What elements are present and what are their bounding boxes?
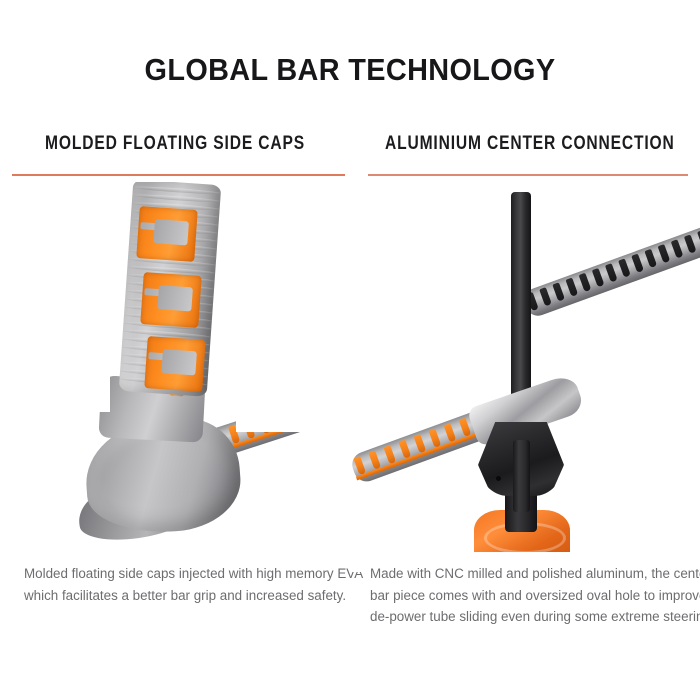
grip-pad-orange xyxy=(144,336,205,392)
panel-heading-right: ALUMINIUM CENTER CONNECTION xyxy=(385,132,665,155)
panel-aluminium-center-connection: ALUMINIUM CENTER CONNECTION xyxy=(350,120,700,680)
panel-divider-right xyxy=(368,174,688,176)
panel-heading-left: MOLDED FLOATING SIDE CAPS xyxy=(35,132,315,155)
panel-molded-floating-side-caps: MOLDED FLOATING SIDE CAPS xyxy=(0,120,350,680)
product-image-center-connection xyxy=(350,182,700,572)
panel-caption-right: Made with CNC milled and polished alumin… xyxy=(350,563,700,628)
bar-tube-upper-right xyxy=(521,221,700,319)
infographic-page: GLOBAL BAR TECHNOLOGY MOLDED FLOATING SI… xyxy=(0,0,700,700)
panel-divider-left xyxy=(12,174,345,176)
grip-pad-orange xyxy=(140,272,201,328)
de-power-tube-lower xyxy=(513,440,530,512)
grip-pad-orange xyxy=(136,206,197,262)
grip-column xyxy=(112,182,232,412)
image-mask xyxy=(236,182,350,432)
page-title: GLOBAL BAR TECHNOLOGY xyxy=(25,52,676,88)
image-mask xyxy=(0,182,110,412)
product-image-side-cap xyxy=(0,182,350,572)
center-hub-screw-icon xyxy=(496,476,501,481)
